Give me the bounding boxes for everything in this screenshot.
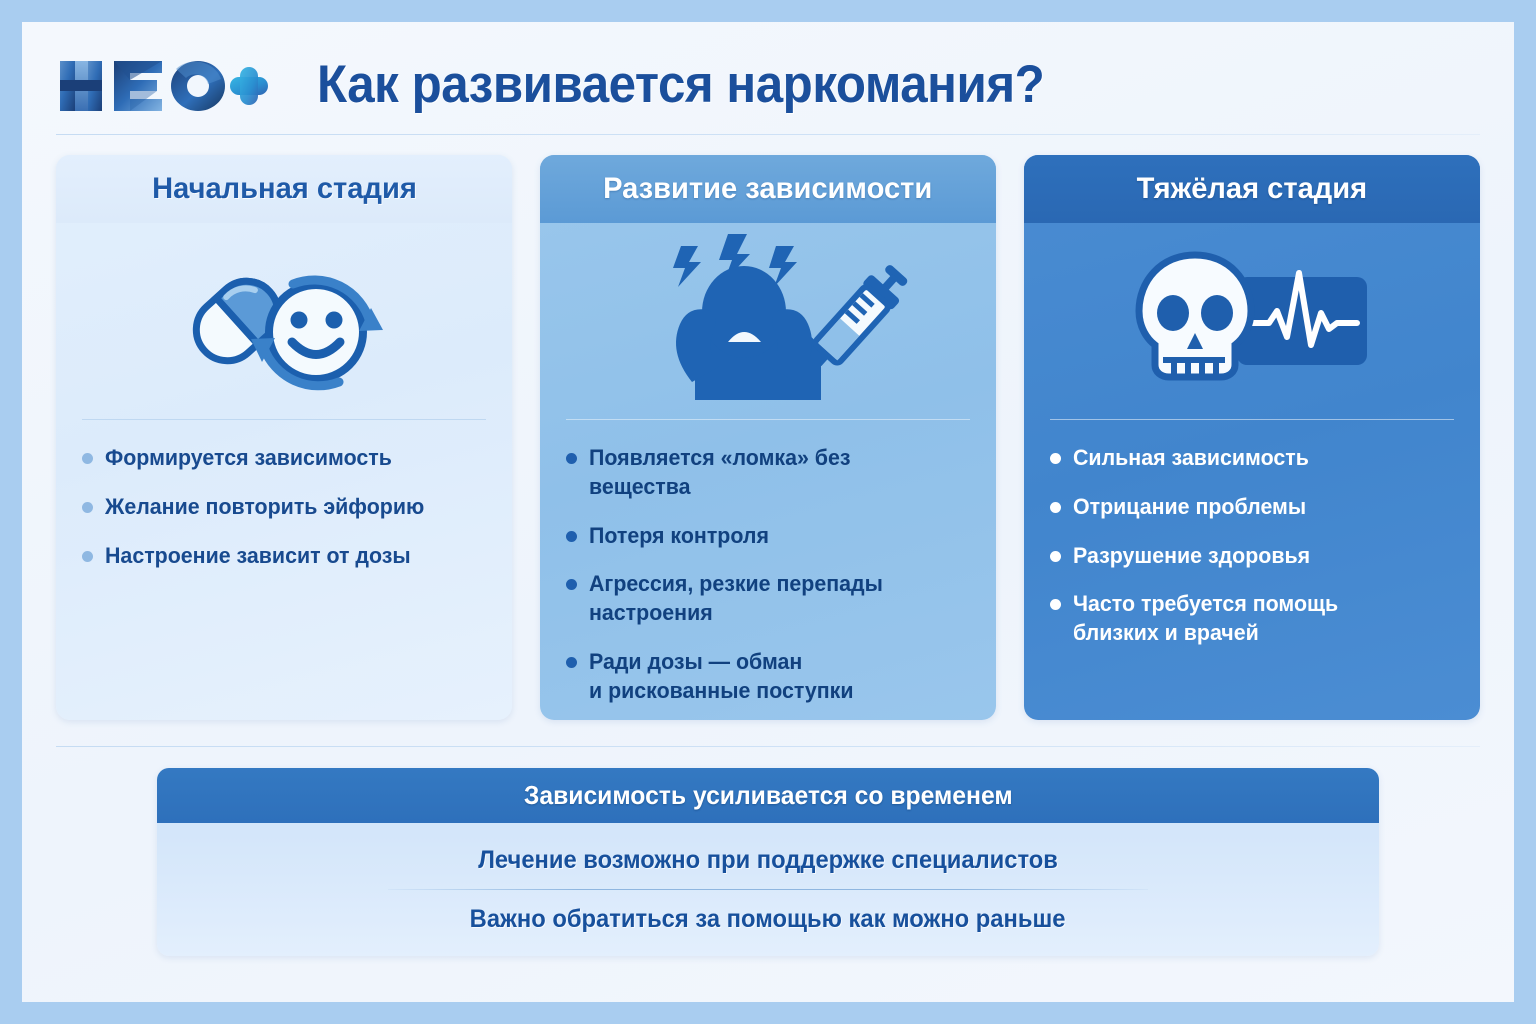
summary-line-1: Лечение возможно при поддержке специалис… <box>478 831 1058 889</box>
summary-header: Зависимость усиливается со временем <box>157 768 1379 823</box>
summary-line-2: Важно обратиться за помощью как можно ра… <box>470 890 1066 948</box>
stage-card-body: Формируется зависимость Желание повторит… <box>56 223 512 720</box>
bullet-text: Агрессия, резкие перепады настроения <box>589 570 951 628</box>
list-item: Часто требуется помощь близких и врачей <box>1050 590 1454 648</box>
list-item: Сильная зависимость <box>1050 444 1454 473</box>
bullet-text: Появляется «ломка» без вещества <box>589 444 951 502</box>
list-item: Ради дозы — обман и рискованные поступки <box>566 648 970 706</box>
stage-card-header: Тяжёлая стадия <box>1024 155 1480 223</box>
summary-lines: Лечение возможно при поддержке специалис… <box>157 823 1379 956</box>
infographic-canvas: Как развивается наркомания? Начальная ст… <box>22 22 1514 1002</box>
summary-headline: Зависимость усиливается со временем <box>524 780 1013 811</box>
bullet-text: Настроение зависит от дозы <box>105 542 411 571</box>
stage-card-header: Развитие зависимости <box>540 155 996 223</box>
bullet-text: Потеря контроля <box>589 522 769 551</box>
bullet-text: Ради дозы — обман и рискованные поступки <box>589 648 854 706</box>
list-item: Отрицание проблемы <box>1050 493 1454 522</box>
stage-bullets: Сильная зависимость Отрицание проблемы Р… <box>1024 420 1480 720</box>
bullet-text: Формируется зависимость <box>105 444 392 473</box>
bullet-dot-icon <box>566 453 577 464</box>
bullet-dot-icon <box>1050 502 1061 513</box>
stage-card-initial[interactable]: Начальная стадия <box>56 155 512 720</box>
list-item: Настроение зависит от дозы <box>82 542 486 571</box>
stage-card-severe[interactable]: Тяжёлая стадия <box>1024 155 1480 720</box>
bullet-text: Сильная зависимость <box>1073 444 1309 473</box>
stage-card-title: Тяжёлая стадия <box>1137 172 1368 206</box>
stage-card-title: Развитие зависимости <box>603 172 932 206</box>
list-item: Желание повторить эйфорию <box>82 493 486 522</box>
skull-ecg-monitor-icon <box>1024 223 1480 419</box>
list-item: Появляется «ломка» без вещества <box>566 444 970 502</box>
summary-panel: Зависимость усиливается со временем Лече… <box>157 768 1379 956</box>
stage-bullets: Появляется «ломка» без вещества Потеря к… <box>540 420 996 720</box>
footer-divider-rule <box>56 746 1480 747</box>
bullet-dot-icon <box>566 531 577 542</box>
neo-plus-logo <box>56 53 271 115</box>
stage-card-body: Появляется «ломка» без вещества Потеря к… <box>540 223 996 720</box>
bullet-dot-icon <box>82 551 93 562</box>
bullet-dot-icon <box>1050 453 1061 464</box>
list-item: Потеря контроля <box>566 522 970 551</box>
list-item: Формируется зависимость <box>82 444 486 473</box>
bullet-text: Часто требуется помощь близких и врачей <box>1073 590 1338 648</box>
pill-smiley-cycle-icon <box>56 223 512 419</box>
bullet-dot-icon <box>1050 599 1061 610</box>
bullet-text: Желание повторить эйфорию <box>105 493 424 522</box>
page-header: Как развивается наркомания? <box>56 34 1480 134</box>
bullet-dot-icon <box>566 657 577 668</box>
stage-bullets: Формируется зависимость Желание повторит… <box>56 420 512 720</box>
header-divider <box>56 134 1480 135</box>
list-item: Агрессия, резкие перепады настроения <box>566 570 970 628</box>
bullet-dot-icon <box>82 502 93 513</box>
stage-card-body: Сильная зависимость Отрицание проблемы Р… <box>1024 223 1480 720</box>
list-item: Разрушение здоровья <box>1050 542 1454 571</box>
bullet-dot-icon <box>1050 551 1061 562</box>
stressed-person-syringe-icon <box>540 223 996 419</box>
stage-card-development[interactable]: Развитие зависимости <box>540 155 996 720</box>
bullet-dot-icon <box>82 453 93 464</box>
stages-container: Начальная стадия <box>56 155 1480 720</box>
stage-card-header: Начальная стадия <box>56 155 512 223</box>
bullet-dot-icon <box>566 579 577 590</box>
bullet-text: Отрицание проблемы <box>1073 493 1306 522</box>
stage-card-title: Начальная стадия <box>152 172 417 206</box>
page-title: Как развивается наркомания? <box>317 54 1044 115</box>
bullet-text: Разрушение здоровья <box>1073 542 1310 571</box>
